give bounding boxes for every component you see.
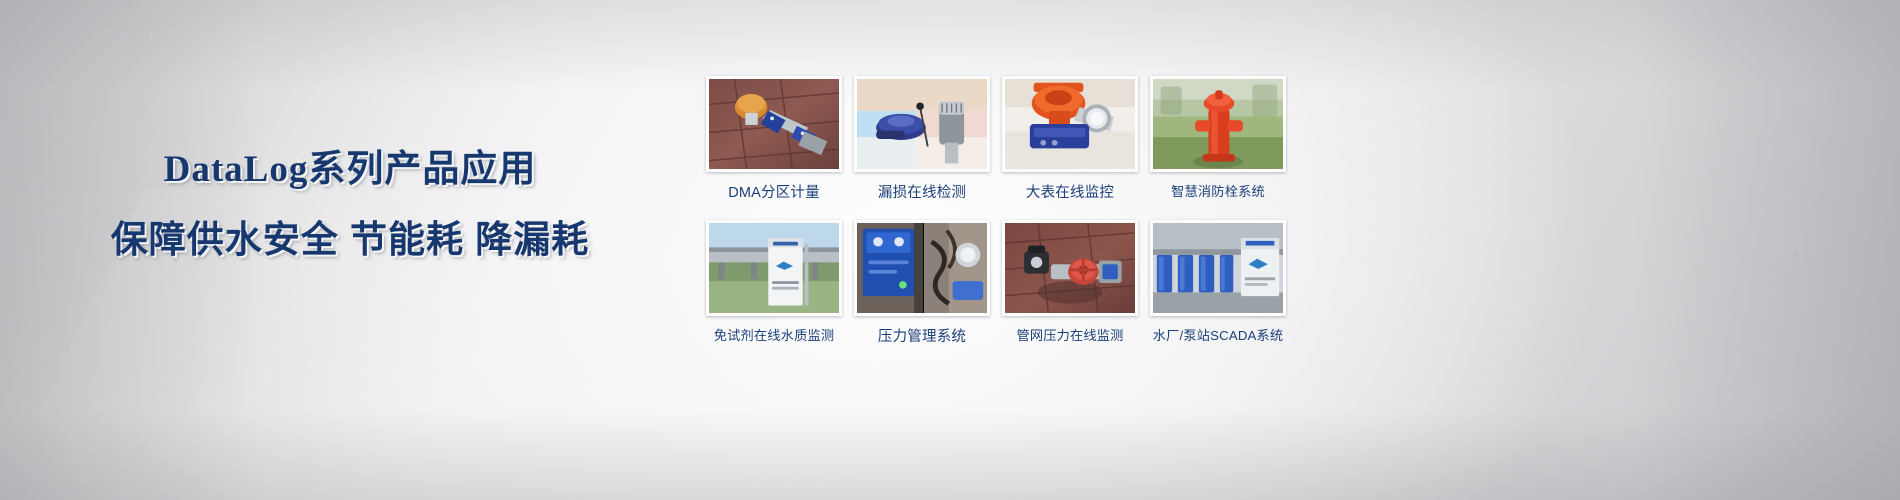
headline-line-1: DataLog系列产品应用 [0,148,700,192]
smart-fire-hydrant-photo[interactable] [1150,76,1286,172]
waterworks-scada-cabinet-photo[interactable] [1150,220,1286,316]
product-caption: DMA分区计量 [706,181,842,202]
product-card-smart-hydrant[interactable]: 智慧消防栓系统 [1150,76,1286,202]
product-row-2: 免试剂在线水质监测 [706,220,1286,346]
headline-block: DataLog系列产品应用 保障供水安全 节能耗 降漏耗 [0,148,700,262]
product-caption: 漏损在线检测 [854,181,990,202]
product-card-dma[interactable]: DMA分区计量 [706,76,842,202]
product-caption: 管网压力在线监测 [1002,325,1138,344]
product-card-pipeline-pressure[interactable]: 管网压力在线监测 [1002,220,1138,346]
product-caption: 水厂/泵站SCADA系统 [1150,325,1286,344]
product-caption: 免试剂在线水质监测 [706,325,842,344]
product-card-scada[interactable]: 水厂/泵站SCADA系统 [1150,220,1286,346]
product-card-pressure-management[interactable]: 压力管理系统 [854,220,990,346]
pipeline-pressure-valve-photo[interactable] [1002,220,1138,316]
product-card-large-meter[interactable]: 大表在线监控 [1002,76,1138,202]
water-quality-monitoring-station-photo[interactable] [706,220,842,316]
hexagon-outline [1420,40,1800,460]
product-caption: 智慧消防栓系统 [1150,181,1286,200]
leak-detection-sensor-photo[interactable] [854,76,990,172]
large-water-meter-photo[interactable] [1002,76,1138,172]
product-card-water-quality[interactable]: 免试剂在线水质监测 [706,220,842,346]
product-card-leak-detection[interactable]: 漏损在线检测 [854,76,990,202]
product-caption: 大表在线监控 [1002,181,1138,202]
dma-flow-meter-photo[interactable] [706,76,842,172]
headline-line-2: 保障供水安全 节能耗 降漏耗 [0,218,700,262]
product-application-banner: DataLog系列产品应用 保障供水安全 节能耗 降漏耗 [0,0,1900,500]
product-caption: 压力管理系统 [854,325,990,346]
product-row-1: DMA分区计量 [706,76,1286,202]
product-grid: DMA分区计量 [706,76,1286,346]
pressure-management-cabinet-photo[interactable] [854,220,990,316]
